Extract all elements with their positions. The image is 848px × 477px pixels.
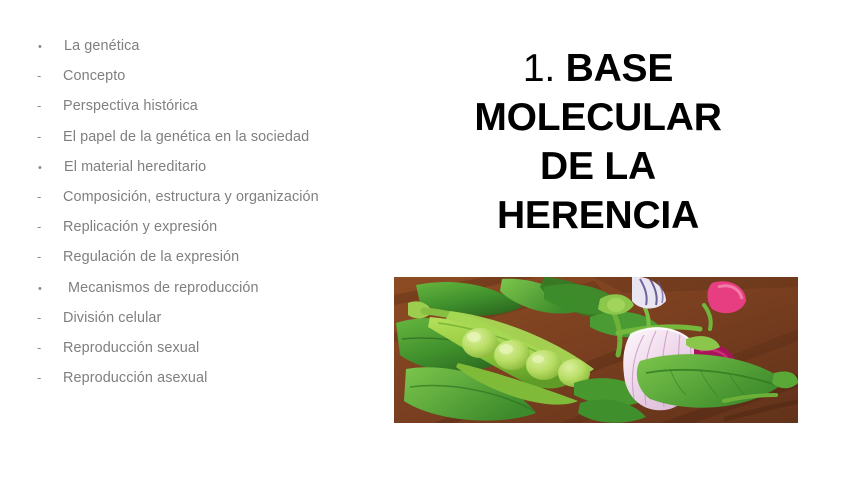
title-line-1-text: BASE (555, 47, 673, 90)
bullet-dash-icon: - (32, 311, 63, 324)
list-item-label: Regulación de la expresión (63, 249, 239, 265)
list-item: - Composición, estructura y organización (32, 189, 384, 219)
bullet-dash-icon: - (32, 341, 63, 354)
list-item: - Reproducción sexual (32, 340, 384, 370)
list-item: • La genética (32, 38, 384, 68)
pea-seed (462, 328, 498, 358)
pea-highlight (467, 332, 481, 342)
bullet-dash-icon: - (32, 371, 63, 384)
list-item: - Perspectiva histórica (32, 98, 384, 128)
list-item-label: Composición, estructura y organización (63, 189, 319, 205)
list-item-label: División celular (63, 310, 161, 326)
list-item-label: La genética (64, 38, 140, 54)
list-item: - Reproducción asexual (32, 370, 384, 400)
list-item: - Concepto (32, 68, 384, 98)
list-item-label: Reproducción sexual (63, 340, 199, 356)
pea-highlight (532, 355, 544, 363)
calyx-highlight (607, 298, 625, 312)
list-item: - División celular (32, 310, 384, 340)
title-line-2: MOLECULAR (410, 93, 786, 142)
bullet-dash-icon: - (32, 190, 63, 203)
pea-seed (526, 350, 562, 380)
bullet-dash-icon: - (32, 130, 63, 143)
bullet-dash-icon: - (32, 69, 63, 82)
title-number: 1. (523, 47, 555, 90)
title-line-3: DE LA (410, 142, 786, 191)
pea-plant-photo (394, 277, 798, 423)
list-item-label: Perspectiva histórica (63, 98, 198, 114)
list-item: - Replicación y expresión (32, 219, 384, 249)
bullet-dash-icon: - (32, 99, 63, 112)
bullet-dot-icon: • (32, 163, 64, 174)
pea-highlight (499, 344, 513, 354)
title-line-1: 1. BASE (410, 44, 786, 93)
page-title: 1. BASE MOLECULAR DE LA HERENCIA (410, 44, 786, 240)
bullet-dot-icon: • (32, 42, 64, 53)
list-item: - El papel de la genética en la sociedad (32, 129, 384, 159)
list-item: - Regulación de la expresión (32, 249, 384, 279)
list-item-label: Reproducción asexual (63, 370, 207, 386)
list-item-label: Replicación y expresión (63, 219, 217, 235)
bullet-dash-icon: - (32, 250, 63, 263)
list-item: • Mecanismos de reproducción (32, 280, 384, 310)
pea-plant-illustration (394, 277, 798, 423)
slide-canvas: • La genética - Concepto - Perspectiva h… (0, 0, 848, 477)
outline-list: • La genética - Concepto - Perspectiva h… (32, 38, 384, 400)
bullet-dash-icon: - (32, 220, 63, 233)
pea-seed (494, 340, 530, 370)
title-line-4: HERENCIA (410, 191, 786, 240)
bullet-dot-icon: • (32, 284, 64, 295)
list-item-label: El papel de la genética en la sociedad (63, 129, 309, 145)
list-item: • El material hereditario (32, 159, 384, 189)
list-item-label: Mecanismos de reproducción (64, 280, 259, 296)
list-item-label: Concepto (63, 68, 125, 84)
list-item-label: El material hereditario (64, 159, 206, 175)
